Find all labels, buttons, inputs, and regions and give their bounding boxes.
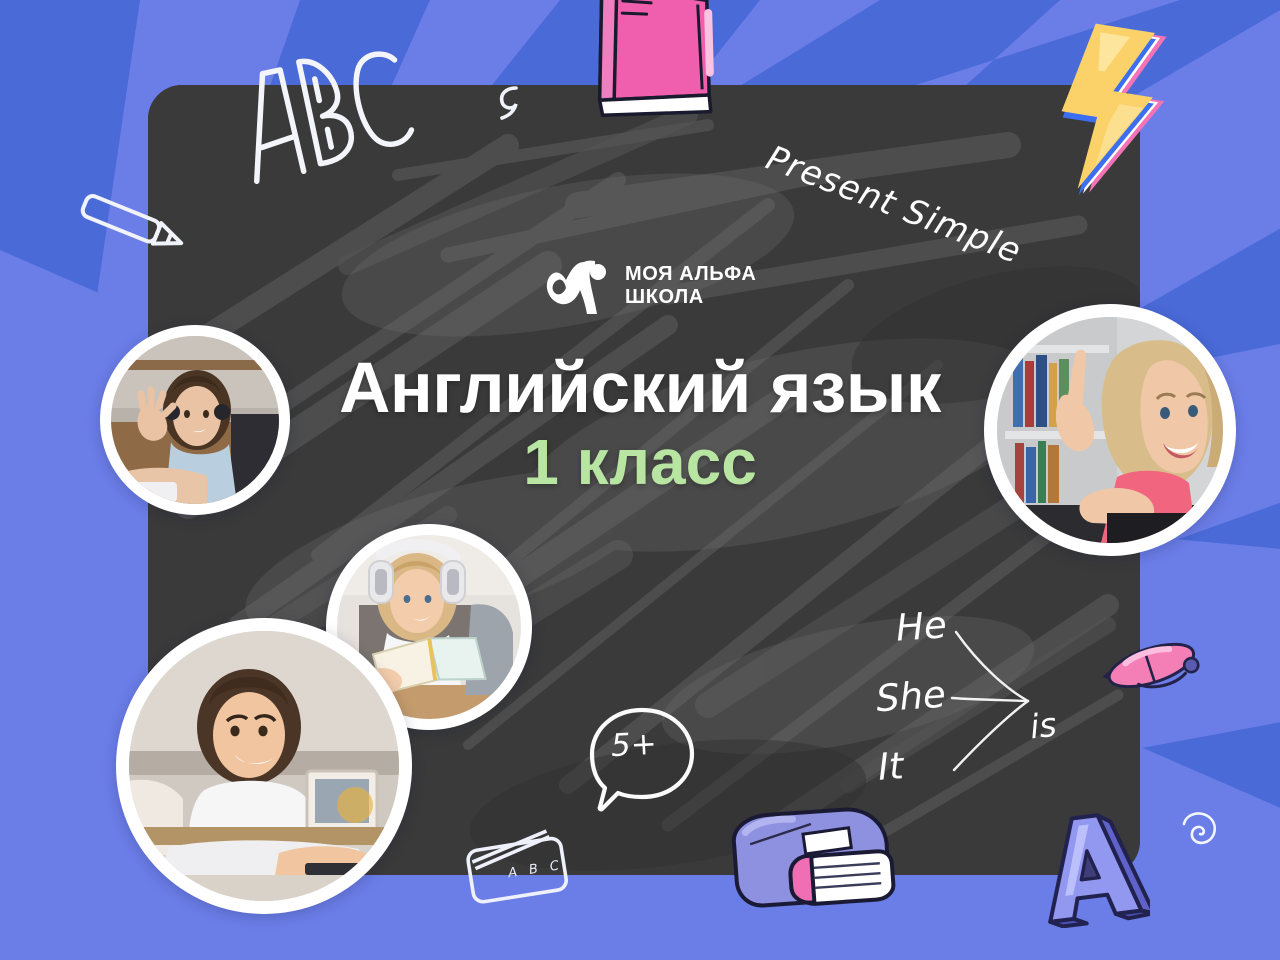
portrait-girl-raising-hand bbox=[984, 304, 1236, 556]
portrait-waving-girl bbox=[100, 325, 290, 515]
brand-name: МОЯ АЛЬФА ШКОЛА bbox=[625, 263, 756, 309]
purple-book-icon bbox=[722, 798, 902, 943]
pink-pen-icon bbox=[1092, 634, 1210, 719]
brand-name-line2: ШКОЛА bbox=[625, 286, 756, 309]
quote-mark-chalk-icon bbox=[494, 82, 528, 127]
chalk-pronoun-she: She bbox=[875, 673, 948, 721]
portrait-boy-at-laptop bbox=[116, 618, 412, 914]
portrait-boy-at-laptop-photo bbox=[129, 631, 399, 901]
brand-name-line1: МОЯ АЛЬФА bbox=[625, 263, 756, 286]
chalk-pronoun-it: It bbox=[877, 744, 905, 789]
portrait-waving-girl-photo bbox=[111, 336, 279, 504]
spiral-chalk-mark-icon bbox=[1178, 808, 1220, 855]
slide-canvas: МОЯ АЛЬФА ШКОЛА Английский язык 1 класс … bbox=[0, 0, 1280, 960]
pink-book-icon bbox=[566, 0, 736, 131]
abc-chalk-letters-icon bbox=[228, 38, 418, 193]
brand-logo: МОЯ АЛЬФА ШКОЛА bbox=[540, 250, 756, 322]
lightning-bolt-icon bbox=[1058, 18, 1176, 213]
chalk-pronoun-he: He bbox=[895, 603, 948, 649]
letter-a-3d-icon bbox=[1040, 808, 1150, 933]
pencil-chalk-outline-icon bbox=[70, 192, 200, 277]
portrait-girl-raising-hand-photo bbox=[997, 317, 1223, 543]
chalk-brace-icon bbox=[950, 628, 1060, 783]
age-badge-label: 5+ bbox=[610, 726, 658, 764]
alpha-swirl-logo-icon bbox=[540, 250, 612, 322]
